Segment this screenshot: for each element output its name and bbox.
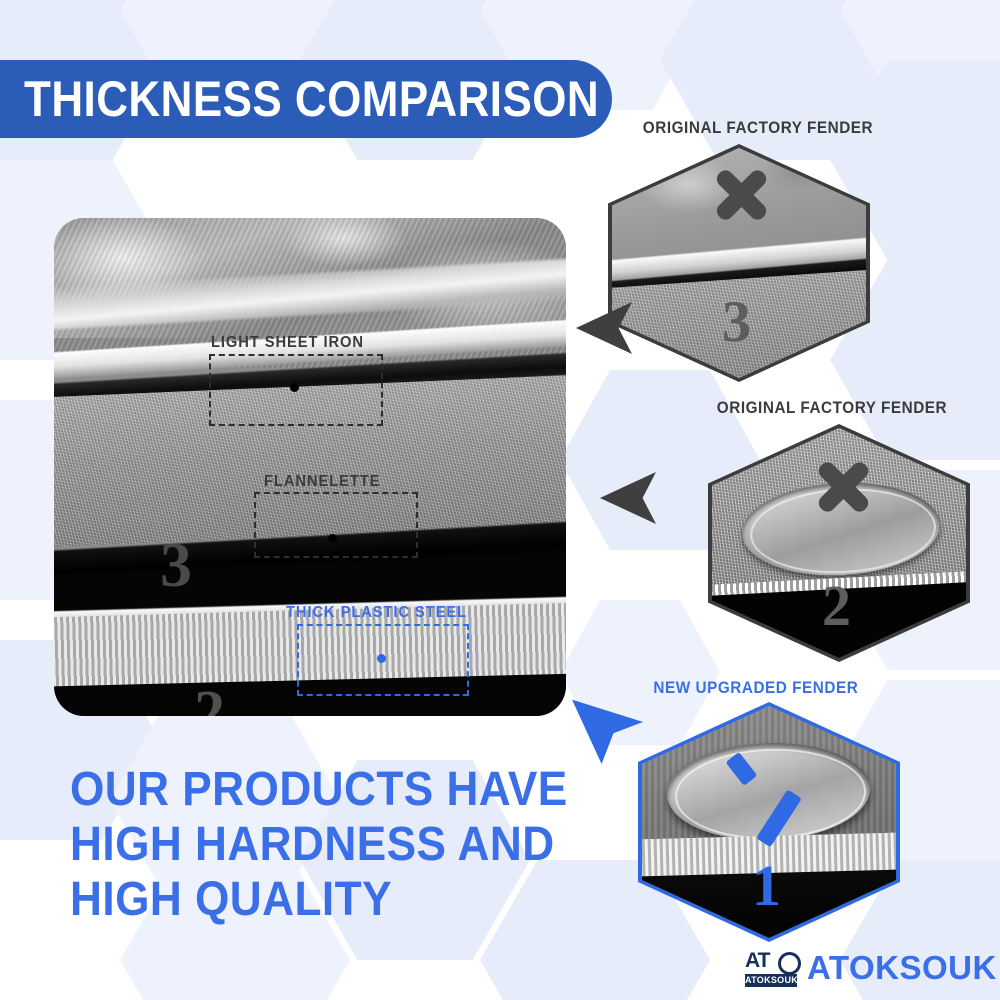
x-mark-icon	[812, 456, 874, 518]
hex-card-label-3: NEW UPGRADED FENDER	[653, 678, 858, 698]
brand-mark-caption: ATOKSOUK	[745, 974, 797, 987]
hex-card-new-upgraded-fender: NEW UPGRADED FENDER 1	[620, 672, 910, 942]
hex-card-original-fender-3: ORIGINAL FACTORY FENDER 3	[600, 112, 890, 382]
headline-block: OUR PRODUCTS HAVE HIGH HARDNESS AND HIGH…	[70, 762, 590, 927]
headline-line-3: HIGH QUALITY	[70, 872, 548, 927]
brand-circle-icon	[778, 952, 801, 975]
layer-callout-box-2	[254, 492, 418, 558]
brand-logo: AT ATOKSOUK ATOKSOUK	[745, 948, 997, 988]
layer-caption-thick-plastic-steel: THICK PLASTIC STEEL	[286, 604, 467, 622]
check-mark-icon	[738, 730, 804, 792]
layer-callout-dot-3	[290, 383, 299, 392]
hex-card-label-1: ORIGINAL FACTORY FENDER	[643, 118, 873, 138]
brand-name: ATOKSOUK	[807, 949, 997, 987]
layer-callout-dot-2	[328, 534, 337, 543]
hex-card-number-1: 3	[722, 288, 751, 355]
layer-caption-flannelette: FLANNELETTE	[264, 473, 380, 491]
layer-number-3: 3	[160, 528, 192, 602]
headline-line-2: HIGH HARDNESS AND	[70, 817, 548, 872]
x-mark-icon	[710, 164, 772, 226]
brand-mark-icon: AT ATOKSOUK	[745, 948, 797, 988]
layer-callout-dot-1	[377, 654, 386, 663]
page-title: THICKNESS COMPARISON	[24, 74, 599, 124]
hex-card-original-fender-2: ORIGINAL FACTORY FENDER 2	[690, 392, 980, 662]
title-banner: THICKNESS COMPARISON	[0, 60, 612, 138]
hex-card-number-3: 1	[752, 852, 781, 919]
headline-line-1: OUR PRODUCTS HAVE	[70, 762, 548, 817]
infographic-canvas: THICKNESS COMPARISON 3 LIGHT SHEET IRON …	[0, 0, 1000, 1000]
hex-card-label-2: ORIGINAL FACTORY FENDER	[717, 398, 947, 418]
layer-caption-light-sheet-iron: LIGHT SHEET IRON	[211, 334, 364, 352]
layer-number-2: 2	[194, 678, 225, 716]
hex-card-number-2: 2	[822, 572, 851, 639]
main-cross-section-photo: 3 LIGHT SHEET IRON 2 FLANNELETTE 1 THICK…	[54, 218, 566, 716]
